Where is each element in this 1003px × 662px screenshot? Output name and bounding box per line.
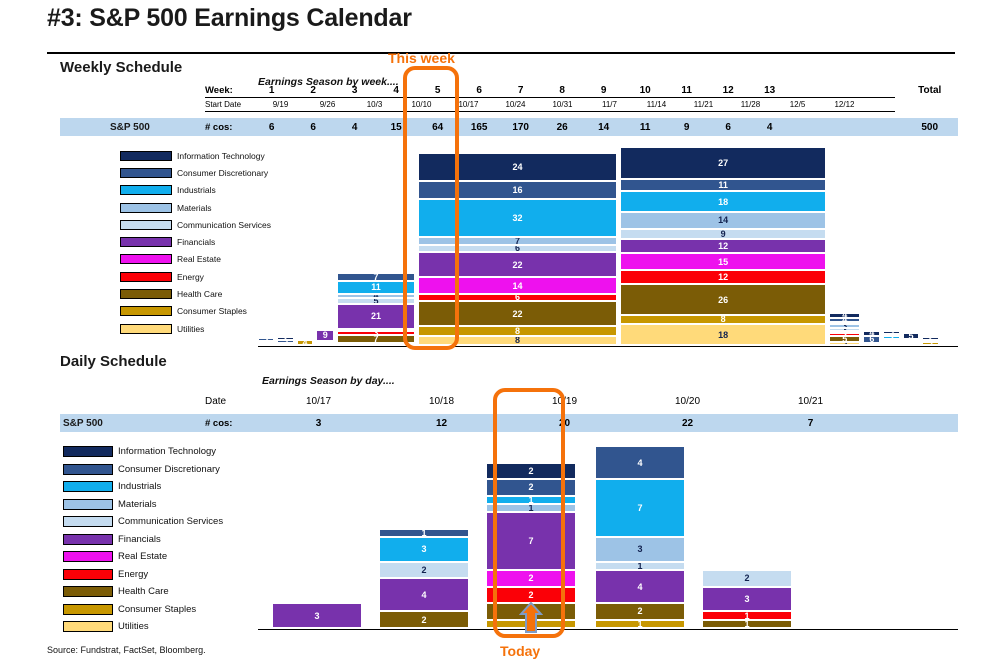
bar-8: 441331253 xyxy=(829,315,860,345)
bar-9: 462 xyxy=(863,329,880,345)
daily-legend-item-4: Communication Services xyxy=(63,513,223,531)
weekly-total-label: Total xyxy=(894,85,965,96)
segment-financials: 12 xyxy=(620,239,826,253)
bar-5: 271145212372 xyxy=(337,270,414,345)
weekly-week-5: 5 xyxy=(417,85,459,96)
weekly-section-title: Weekly Schedule xyxy=(60,59,182,76)
segment-industrials: 7 xyxy=(595,479,685,537)
daily-legend-label: Consumer Discretionary xyxy=(118,464,220,475)
segment-financials: 4 xyxy=(379,578,469,611)
weekly-startdate-label: Start Date xyxy=(205,100,257,109)
weekly-startdate-11: 11/28 xyxy=(727,100,774,109)
segment-information-technology: 24 xyxy=(418,153,618,181)
weekly-startdate-13: 12/12 xyxy=(821,100,868,109)
weekly-startdate-5: 10/17 xyxy=(445,100,492,109)
daily-legend-label: Utilities xyxy=(118,621,149,632)
daily-legend-label: Real Estate xyxy=(118,551,167,562)
weekly-legend-label: Financials xyxy=(177,237,215,247)
daily-date-label: Date xyxy=(205,396,257,407)
daily-legend-label: Energy xyxy=(118,569,148,580)
legend-swatch-icon xyxy=(63,586,113,597)
daily-legend-item-0: Information Technology xyxy=(63,443,223,461)
weekly-week-4: 4 xyxy=(375,85,417,96)
source-note: Source: Fundstrat, FactSet, Bloomberg. xyxy=(47,645,206,655)
segment-communication-services: 6 xyxy=(418,245,618,252)
daily-legend-label: Communication Services xyxy=(118,516,223,527)
segment-energy: 1 xyxy=(702,611,792,619)
segment-consumer-staples: 8 xyxy=(620,315,826,324)
daily-legend-item-2: Industrials xyxy=(63,478,223,496)
daily-index-label: S&P 500 xyxy=(63,418,103,429)
weekly-startdate-2: 9/26 xyxy=(304,100,351,109)
today-arrow-icon xyxy=(519,601,543,633)
segment-financials: 7 xyxy=(486,512,576,570)
daily-chart-axis xyxy=(258,629,958,631)
weekly-count-13: 4 xyxy=(749,122,791,133)
bar-11: 5211 xyxy=(903,335,919,345)
weekly-week-11: 11 xyxy=(666,85,708,96)
weekly-week-2: 2 xyxy=(292,85,334,96)
daily-legend-item-7: Energy xyxy=(63,566,223,584)
segment-industrials: 1 xyxy=(277,343,293,345)
segment-health-care: 1 xyxy=(702,620,792,628)
segment-health-care: 7 xyxy=(337,335,414,343)
segment-utilities: 8 xyxy=(418,336,618,345)
weekly-count-9: 14 xyxy=(583,122,625,133)
segment-materials: 3 xyxy=(595,537,685,562)
legend-swatch-icon xyxy=(120,220,172,230)
segment-industrials: 2 xyxy=(942,343,958,345)
segment-consumer-discretionary: 11 xyxy=(620,179,826,192)
segment-health-care: 2 xyxy=(379,611,469,628)
weekly-count-8: 26 xyxy=(541,122,583,133)
weekly-legend-item-0: Information Technology xyxy=(120,147,271,164)
weekly-stacked-bar-chart: 1212231412912271145212372241632762214622… xyxy=(258,147,958,345)
weekly-week-6: 6 xyxy=(458,85,500,96)
segment-consumer-discretionary: 7 xyxy=(337,273,414,281)
weekly-week-3: 3 xyxy=(334,85,376,96)
segment-financials: 3 xyxy=(272,603,362,628)
legend-swatch-icon xyxy=(120,168,172,178)
weekly-count-row: # cos: 6641564165170261411964500 xyxy=(205,118,965,136)
weekly-week-row: Week: 12345678910111213Total xyxy=(205,84,965,97)
segment-real-estate: 2 xyxy=(486,570,576,587)
segment-financials: 4 xyxy=(595,570,685,603)
daily-legend-item-9: Consumer Staples xyxy=(63,601,223,619)
daily-count-3: 20 xyxy=(503,418,626,429)
segment-industrials: 18 xyxy=(620,191,826,212)
segment-financials: 3 xyxy=(702,587,792,612)
weekly-legend-item-6: Real Estate xyxy=(120,251,271,268)
segment-consumer-staples: 2 xyxy=(258,343,274,345)
legend-swatch-icon xyxy=(120,185,172,195)
weekly-legend-item-9: Consumer Staples xyxy=(120,303,271,320)
legend-swatch-icon xyxy=(63,446,113,457)
weekly-week-1: 1 xyxy=(251,85,293,96)
weekly-legend-label: Consumer Staples xyxy=(177,306,247,316)
weekly-legend-label: Health Care xyxy=(177,289,222,299)
segment-consumer-staples: 2 xyxy=(337,343,414,345)
segment-real-estate: 14 xyxy=(418,277,618,293)
segment-health-care: 2 xyxy=(595,603,685,620)
legend-swatch-icon xyxy=(63,534,113,545)
weekly-legend-item-10: Utilities xyxy=(120,320,271,337)
bar-6: 24163276221462288 xyxy=(418,153,618,345)
weekly-count-5: 64 xyxy=(417,122,459,133)
weekly-chart-axis xyxy=(258,346,958,348)
segment-consumer-discretionary: 4 xyxy=(595,446,685,479)
bar-10/17: 3 xyxy=(272,603,362,628)
legend-swatch-icon xyxy=(120,272,172,282)
weekly-legend-item-2: Industrials xyxy=(120,182,271,199)
weekly-total-value: 500 xyxy=(894,122,965,133)
segment-communication-services: 2 xyxy=(702,570,792,587)
daily-legend: Information TechnologyConsumer Discretio… xyxy=(63,443,223,636)
segment-consumer-discretionary: 1 xyxy=(379,529,469,537)
segment-energy: 12 xyxy=(620,270,826,284)
weekly-legend-label: Communication Services xyxy=(177,220,271,230)
bar-10/18: 13242 xyxy=(379,529,469,628)
bar-7: 27111814912151226818 xyxy=(620,147,826,345)
daily-date-3: 10/19 xyxy=(503,396,626,407)
segment-energy: 6 xyxy=(418,294,618,301)
segment-utilities: 3 xyxy=(829,342,860,345)
segment-utilities: 18 xyxy=(620,324,826,345)
daily-legend-label: Materials xyxy=(118,499,157,510)
weekly-startdate-1: 9/19 xyxy=(257,100,304,109)
segment-financials: 22 xyxy=(418,252,618,278)
daily-section-title: Daily Schedule xyxy=(60,353,167,370)
weekly-startdate-row: Start Date 9/199/2610/310/1010/1710/2410… xyxy=(205,98,965,111)
weekly-count-10: 11 xyxy=(624,122,666,133)
daily-legend-item-1: Consumer Discretionary xyxy=(63,461,223,479)
weekly-startdate-8: 11/7 xyxy=(586,100,633,109)
weekly-count-4: 15 xyxy=(375,122,417,133)
weekly-count-3: 4 xyxy=(334,122,376,133)
bar-10/20: 4731421 xyxy=(595,446,685,628)
daily-count-row: # cos: 31220227 xyxy=(205,414,965,432)
bar-3: 4 xyxy=(297,340,313,345)
legend-swatch-icon xyxy=(120,289,172,299)
bar-12: 213 xyxy=(922,338,938,345)
daily-legend-item-6: Real Estate xyxy=(63,548,223,566)
segment-health-care: 26 xyxy=(620,284,826,314)
daily-count-1: 3 xyxy=(257,418,380,429)
segment-utilities: 1 xyxy=(883,343,899,345)
bar-1: 1212 xyxy=(258,338,274,345)
daily-legend-label: Financials xyxy=(118,534,161,545)
segment-information-technology: 2 xyxy=(486,463,576,480)
today-label: Today xyxy=(500,643,540,659)
daily-date-row: Date 10/1710/1810/1910/2010/21 xyxy=(205,394,965,409)
weekly-count-2: 6 xyxy=(292,122,334,133)
legend-swatch-icon xyxy=(120,324,172,334)
segment-consumer-staples: 1 xyxy=(595,620,685,628)
weekly-week-7: 7 xyxy=(500,85,542,96)
weekly-count-11: 9 xyxy=(666,122,708,133)
daily-date-2: 10/18 xyxy=(380,396,503,407)
segment-consumer-staples: 2 xyxy=(316,343,334,345)
weekly-week-10: 10 xyxy=(624,85,666,96)
segment-communication-services: 2 xyxy=(379,562,469,579)
segment-industrials: 1 xyxy=(486,496,576,504)
weekly-count-1: 6 xyxy=(251,122,293,133)
daily-legend-label: Industrials xyxy=(118,481,161,492)
weekly-index-label: S&P 500 xyxy=(110,122,150,133)
daily-legend-item-10: Utilities xyxy=(63,618,223,636)
slide-page: #3: S&P 500 Earnings Calendar Weekly Sch… xyxy=(0,0,1003,662)
legend-swatch-icon xyxy=(120,306,172,316)
weekly-startdate-9: 11/14 xyxy=(633,100,680,109)
legend-swatch-icon xyxy=(63,551,113,562)
weekly-week-label: Week: xyxy=(205,85,251,96)
weekly-legend-label: Utilities xyxy=(177,324,204,334)
daily-count-5: 7 xyxy=(749,418,872,429)
weekly-count-6: 165 xyxy=(458,122,500,133)
legend-swatch-icon xyxy=(120,151,172,161)
segment-consumer-staples: 1 xyxy=(903,343,919,345)
segment-consumer-staples: 4 xyxy=(297,340,313,345)
weekly-legend-item-7: Energy xyxy=(120,268,271,285)
daily-legend-label: Information Technology xyxy=(118,446,216,457)
weekly-legend-label: Energy xyxy=(177,272,204,282)
segment-industrials: 32 xyxy=(418,199,618,236)
weekly-legend-label: Industrials xyxy=(177,185,216,195)
segment-materials: 1 xyxy=(486,504,576,512)
daily-legend-item-8: Health Care xyxy=(63,583,223,601)
segment-materials: 7 xyxy=(418,237,618,245)
daily-count-2: 12 xyxy=(380,418,503,429)
weekly-startdate-3: 10/3 xyxy=(351,100,398,109)
weekly-legend-item-1: Consumer Discretionary xyxy=(120,164,271,181)
weekly-startdate-4: 10/10 xyxy=(398,100,445,109)
title-divider xyxy=(47,52,955,54)
daily-legend-label: Consumer Staples xyxy=(118,604,196,615)
page-title: #3: S&P 500 Earnings Calendar xyxy=(47,4,412,33)
segment-consumer-discretionary: 16 xyxy=(418,181,618,200)
segment-information-technology: 27 xyxy=(620,147,826,178)
daily-legend-item-5: Financials xyxy=(63,531,223,549)
segment-consumer-discretionary: 6 xyxy=(863,336,880,343)
weekly-legend-label: Materials xyxy=(177,203,211,213)
legend-swatch-icon xyxy=(120,254,172,264)
weekly-startdate-12: 12/5 xyxy=(774,100,821,109)
legend-swatch-icon xyxy=(63,481,113,492)
legend-swatch-icon xyxy=(120,237,172,247)
segment-consumer-discretionary: 2 xyxy=(486,479,576,496)
legend-swatch-icon xyxy=(63,516,113,527)
bar-10: 322211 xyxy=(883,332,899,345)
bar-13: 112 xyxy=(942,340,958,345)
daily-date-4: 10/20 xyxy=(626,396,749,407)
weekly-count-12: 6 xyxy=(707,122,749,133)
daily-count-label: # cos: xyxy=(205,418,257,429)
weekly-legend-label: Information Technology xyxy=(177,151,265,161)
weekly-startdate-6: 10/24 xyxy=(492,100,539,109)
legend-swatch-icon xyxy=(63,569,113,580)
legend-swatch-icon xyxy=(63,621,113,632)
weekly-startdate-10: 11/21 xyxy=(680,100,727,109)
weekly-count-label: # cos: xyxy=(205,122,251,133)
weekly-legend-item-3: Materials xyxy=(120,199,271,216)
daily-stacked-bar-chart: 31324222117222147314212311 xyxy=(258,443,958,628)
segment-financials: 9 xyxy=(316,330,334,340)
weekly-legend-label: Real Estate xyxy=(177,254,221,264)
segment-consumer-staples: 8 xyxy=(418,326,618,335)
bar-4: 12912 xyxy=(316,328,334,345)
segment-communication-services: 9 xyxy=(620,229,826,239)
daily-caption: Earnings Season by day.... xyxy=(262,375,395,387)
weekly-legend-item-8: Health Care xyxy=(120,285,271,302)
weekly-header-table: Week: 12345678910111213Total Start Date … xyxy=(205,84,965,112)
segment-real-estate: 15 xyxy=(620,253,826,270)
daily-date-5: 10/21 xyxy=(749,396,872,407)
legend-swatch-icon xyxy=(63,499,113,510)
legend-swatch-icon xyxy=(63,604,113,615)
legend-swatch-icon xyxy=(120,203,172,213)
weekly-legend: Information TechnologyConsumer Discretio… xyxy=(120,147,271,337)
weekly-week-9: 9 xyxy=(583,85,625,96)
weekly-startdate-7: 10/31 xyxy=(539,100,586,109)
daily-count-4: 22 xyxy=(626,418,749,429)
segment-consumer-staples: 3 xyxy=(922,342,938,345)
weekly-legend-item-4: Communication Services xyxy=(120,216,271,233)
segment-financials: 21 xyxy=(337,304,414,328)
segment-industrials: 11 xyxy=(337,281,414,294)
weekly-week-8: 8 xyxy=(541,85,583,96)
segment-consumer-staples: 2 xyxy=(863,343,880,345)
legend-swatch-icon xyxy=(63,464,113,475)
this-week-label: This week xyxy=(388,50,455,66)
segment-communication-services: 1 xyxy=(595,562,685,570)
weekly-week-13: 13 xyxy=(749,85,791,96)
weekly-week-12: 12 xyxy=(707,85,749,96)
segment-industrials: 3 xyxy=(379,537,469,562)
segment-health-care: 22 xyxy=(418,301,618,327)
daily-header-table: Date 10/1710/1810/1910/2010/21 xyxy=(205,394,965,409)
weekly-legend-item-5: Financials xyxy=(120,233,271,250)
weekly-count-7: 170 xyxy=(500,122,542,133)
daily-legend-label: Health Care xyxy=(118,586,169,597)
weekly-legend-label: Consumer Discretionary xyxy=(177,168,268,178)
segment-materials: 14 xyxy=(620,212,826,228)
bar-10/21: 2311 xyxy=(702,570,792,628)
daily-legend-item-3: Materials xyxy=(63,496,223,514)
daily-date-1: 10/17 xyxy=(257,396,380,407)
bar-2: 231 xyxy=(277,338,293,345)
